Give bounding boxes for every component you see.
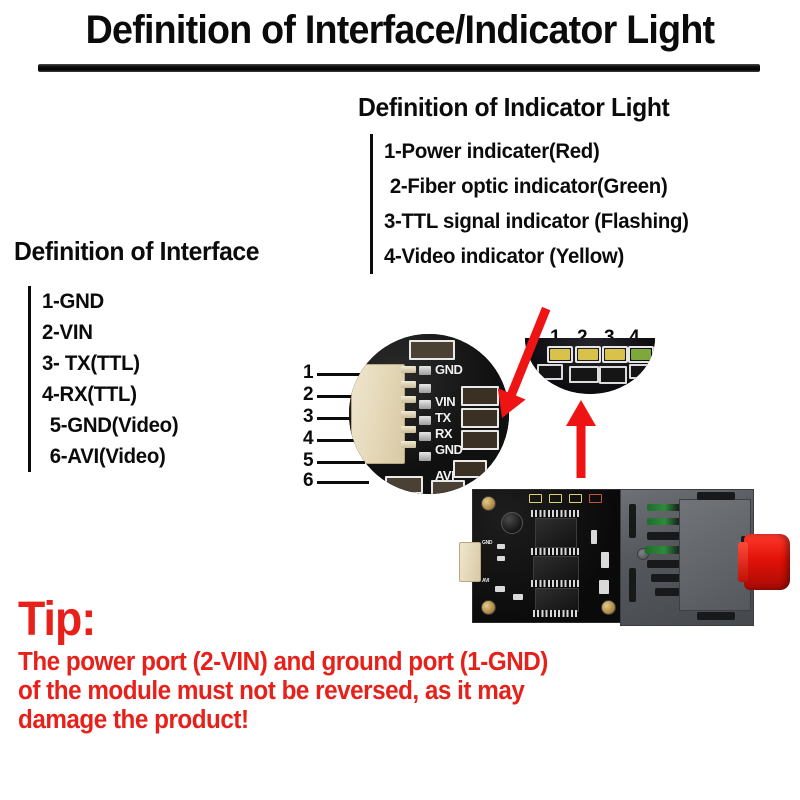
board-led-3: [569, 494, 582, 503]
ic-chip: [535, 518, 577, 548]
smd-component: [409, 340, 455, 360]
pin-number: 2: [303, 384, 314, 406]
smd-resistor: [599, 580, 609, 594]
jst-connector-pins: [401, 366, 417, 460]
ic-pins: [533, 610, 577, 617]
led-3: [602, 346, 628, 363]
smd-component: [629, 364, 653, 379]
smd-component: [599, 366, 627, 384]
board-led-4: [589, 494, 602, 503]
silkscreen-rx: RX: [435, 426, 452, 441]
cage-vent: [629, 568, 636, 602]
list-item: 6-AVI(Video): [42, 441, 178, 472]
solder-pad: [419, 366, 431, 375]
smd-component: [537, 364, 563, 380]
board-jst-connector: [459, 542, 481, 582]
connector-magnified-callout: GND VIN TX RX GND AVI: [349, 334, 509, 494]
cage-slot: [697, 612, 735, 620]
smd-resistor: [495, 586, 505, 592]
led-1: [547, 346, 573, 363]
mounting-hole: [481, 600, 496, 615]
pin-number: 1: [303, 362, 314, 384]
list-item: 2-VIN: [42, 317, 178, 348]
smd-resistor: [601, 552, 609, 568]
arrow-shaft: [577, 424, 586, 478]
ic-pins: [531, 510, 579, 517]
silkscreen-avi-label: AVI: [482, 578, 489, 584]
ic-chip: [533, 556, 579, 582]
ic-pins: [531, 580, 579, 587]
smd-resistor: [513, 594, 523, 600]
list-item: 4-Video indicator (Yellow): [384, 239, 689, 274]
list-item: 3-TTL signal indicator (Flashing): [384, 204, 689, 239]
board-led-1: [529, 494, 542, 503]
tip-label: Tip:: [18, 592, 95, 647]
silkscreen-gnd-video: GND: [435, 442, 462, 457]
tip-line: The power port (2-VIN) and ground port (…: [18, 648, 740, 677]
cage-slot: [697, 492, 735, 500]
list-item: 3- TX(TTL): [42, 348, 178, 379]
silkscreen-gnd-label: GND: [482, 540, 492, 546]
led-2: [575, 346, 601, 363]
arrow-head: [566, 400, 596, 426]
cage-vent: [629, 504, 636, 538]
fiber-connector-cap: [744, 534, 790, 590]
silkscreen-vin: VIN: [435, 394, 455, 409]
smd-component: [385, 476, 423, 494]
indicator-list-rule: [370, 134, 373, 274]
solder-pad: [419, 432, 431, 441]
fiber-transceiver-cage: [620, 489, 754, 626]
led-4: [628, 346, 654, 363]
mounting-hole: [481, 496, 496, 511]
pin-number: 4: [303, 428, 314, 450]
list-item: 1-Power indicater(Red): [384, 134, 689, 169]
list-item: 1-GND: [42, 286, 178, 317]
mounting-hole: [601, 600, 616, 615]
arrow-to-led-callout: [566, 400, 596, 478]
smd-resistor: [497, 544, 505, 549]
board-led-2: [549, 494, 562, 503]
interface-section-heading: Definition of Interface: [14, 236, 259, 267]
smd-component: [569, 366, 599, 383]
smd-component: [461, 430, 499, 450]
title-divider: [38, 64, 760, 72]
jst-connector-body: [351, 364, 405, 464]
pin-number: 6: [303, 470, 314, 492]
solder-pad: [419, 452, 431, 461]
list-item: 5-GND(Video): [42, 410, 178, 441]
silkscreen-gnd: GND: [435, 362, 462, 377]
solder-pad: [419, 416, 431, 425]
solder-pad: [419, 384, 431, 393]
silkscreen-tx: TX: [435, 410, 451, 425]
list-item: 2-Fiber optic indicator(Green): [384, 169, 689, 204]
ic-chip: [535, 588, 579, 612]
smd-component: [431, 480, 465, 494]
smd-resistor: [497, 556, 505, 561]
pin-number: 5: [303, 450, 314, 472]
smd-component: [453, 460, 487, 478]
interface-list-rule: [28, 286, 31, 472]
tip-line: damage the product!: [18, 706, 740, 735]
tip-line: of the module must not be reversed, as i…: [18, 677, 740, 706]
list-item: 4-RX(TTL): [42, 379, 178, 410]
page-title: Definition of Interface/Indicator Light: [24, 8, 776, 53]
ic-pins: [531, 548, 581, 555]
interface-definition-list: 1-GND 2-VIN 3- TX(TTL) 4-RX(TTL) 5-GND(V…: [28, 286, 183, 472]
main-pcb: GND AVI: [472, 489, 624, 623]
indicator-definition-list: 1-Power indicater(Red) 2-Fiber optic ind…: [370, 134, 698, 274]
smd-resistor: [591, 530, 597, 544]
pin-number: 3: [303, 406, 314, 428]
product-photo: GND AVI: [472, 489, 790, 624]
tip-warning-text: The power port (2-VIN) and ground port (…: [18, 648, 740, 735]
solder-pad: [419, 400, 431, 409]
indicator-section-heading: Definition of Indicator Light: [358, 92, 669, 123]
inductor: [501, 512, 523, 534]
